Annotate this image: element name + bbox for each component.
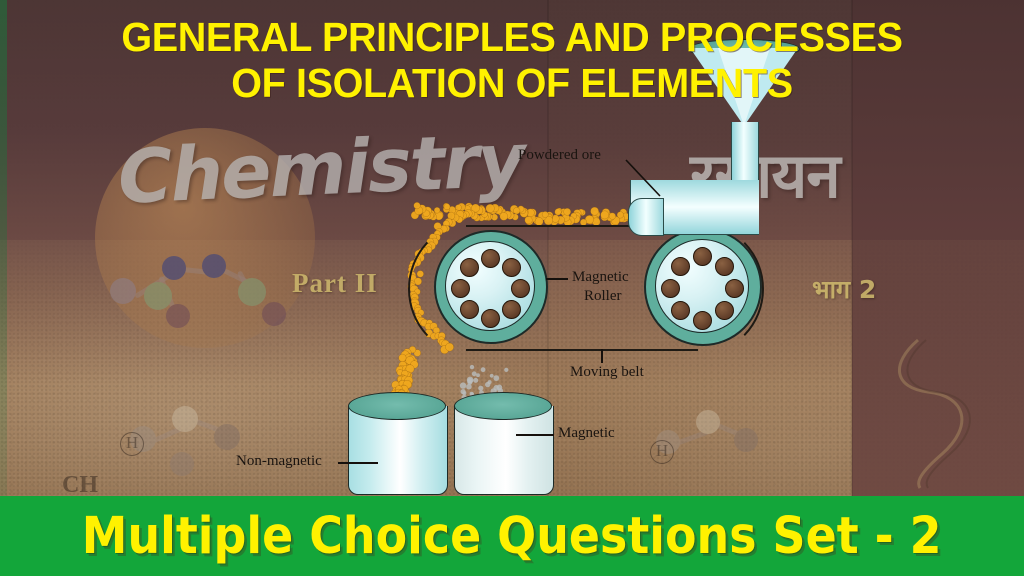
magnetic-collection-cylinder [454, 392, 552, 496]
magnetic-roller-left [434, 230, 548, 344]
label-powdered-ore: Powdered ore [518, 146, 601, 165]
label-magnetic-roller-line1: Magnetic [572, 269, 629, 285]
label-non-magnetic: Non-magnetic [236, 452, 322, 471]
label-magnetic-roller: Magnetic Roller [572, 268, 629, 306]
funnel-icon [690, 48, 800, 198]
label-moving-belt: Moving belt [570, 363, 644, 382]
funnel-neck [731, 122, 759, 188]
video-thumbnail: H H CH Chemistry Part II रसायन भाग 2 [0, 0, 1024, 576]
bottom-banner: Multiple Choice Questions Set - 2 [0, 496, 1024, 576]
cylinder-right-top [454, 392, 552, 420]
bottom-banner-text: Multiple Choice Questions Set - 2 [82, 507, 942, 566]
label-magnetic: Magnetic [558, 424, 615, 443]
funnel-spout [628, 198, 664, 236]
label-magnetic-roller-line2: Roller [584, 287, 622, 306]
belt-bottom-line [466, 349, 698, 351]
cylinder-left-top [348, 392, 446, 420]
non-magnetic-collection-cylinder [348, 392, 446, 496]
magnetic-separation-diagram: Powdered ore Magnetic Roller Moving belt… [0, 0, 1024, 576]
leader-moving-belt [601, 349, 603, 363]
magnetic-roller-right [644, 228, 762, 346]
leader-magnetic-roller [546, 278, 568, 280]
leader-non-magnetic [338, 462, 378, 464]
leader-magnetic [516, 434, 554, 436]
funnel-cone-highlight [718, 48, 770, 126]
